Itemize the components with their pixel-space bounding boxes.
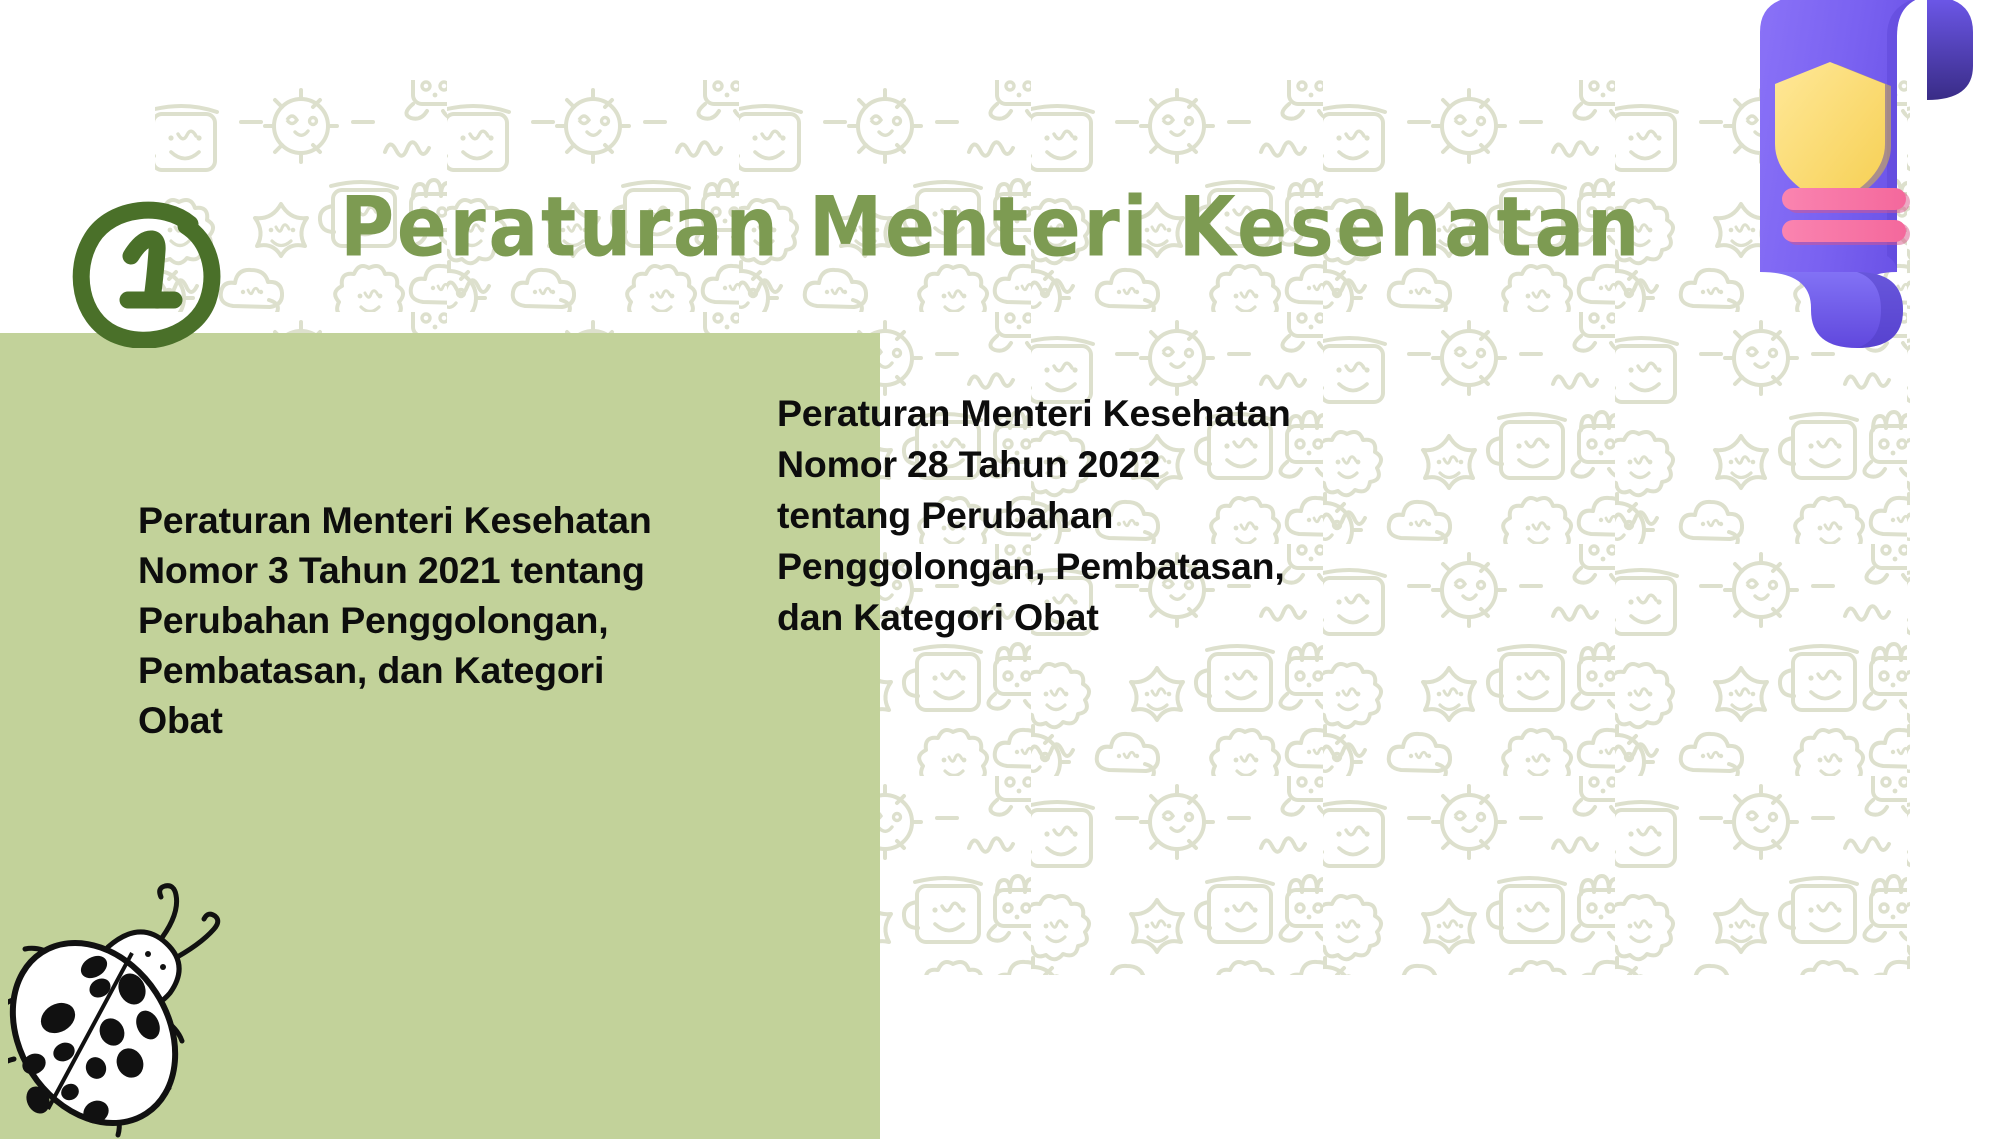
ladybug-icon <box>8 855 238 1139</box>
slide-title: Peraturan Menteri Kesehatan <box>340 186 1642 269</box>
slide-canvas: Peraturan Menteri Kesehatan Peraturan Me… <box>0 0 1989 1139</box>
step-number-badge <box>68 200 228 348</box>
certificate-scroll-icon <box>1672 0 1989 374</box>
regulation-item-1-text: Peraturan Menteri Kesehatan Nomor 3 Tahu… <box>138 496 678 745</box>
regulation-item-2-text: Peraturan Menteri Kesehatan Nomor 28 Tah… <box>777 388 1297 643</box>
